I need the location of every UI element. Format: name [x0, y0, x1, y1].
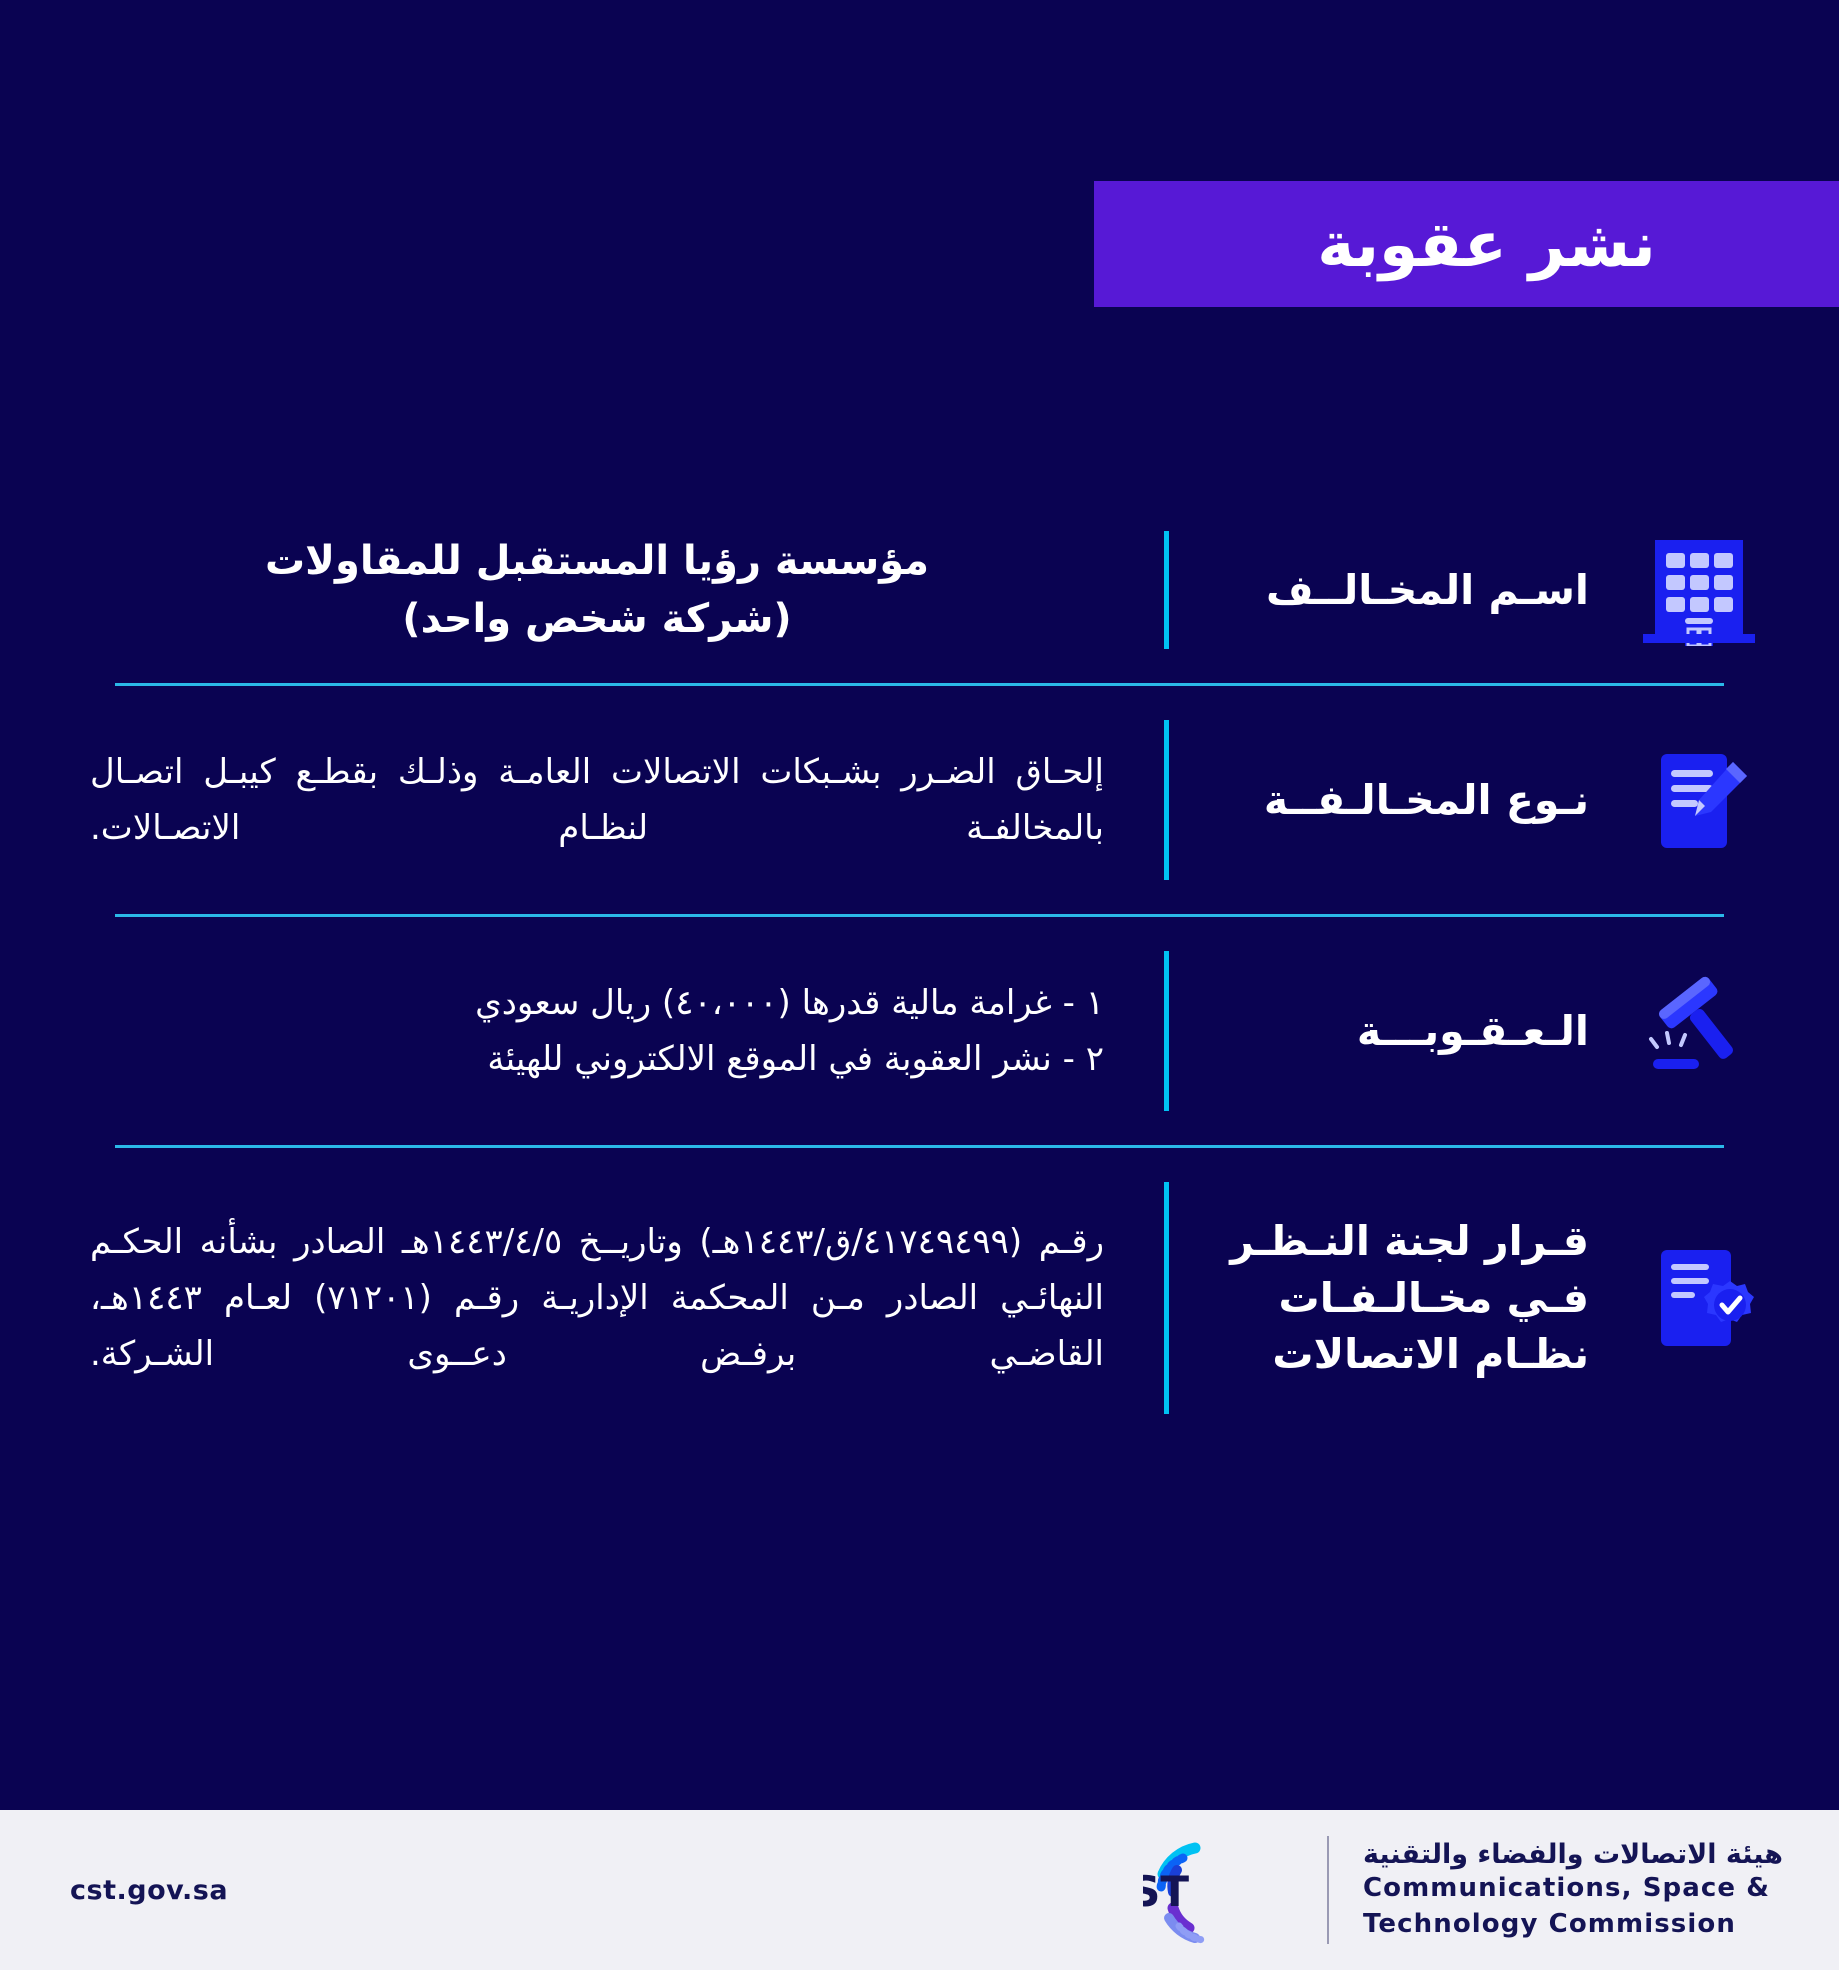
row-label-cell: الـعـقـوبـــة — [1169, 1003, 1589, 1060]
document-check-icon — [1637, 1242, 1761, 1354]
penalty-value: ١ - غرامة مالية قدرها (٤٠،٠٠٠) ريال سعود… — [90, 975, 1104, 1087]
vertical-divider — [1164, 531, 1169, 649]
value-line: (شركة شخص واحد) — [90, 590, 1104, 648]
vertical-divider — [1164, 1182, 1169, 1414]
value-line: ١ - غرامة مالية قدرها (٤٠،٠٠٠) ريال سعود… — [90, 975, 1104, 1031]
row-value-cell: إلحـاق الضـرر بشـبكات الاتصالات العامـة … — [0, 744, 1164, 856]
row-label-penalty: الـعـقـوبـــة — [1203, 1003, 1589, 1060]
row-value-cell: مؤسسة رؤيا المستقبل للمقاولات (شركة شخص … — [0, 532, 1164, 648]
org-name-english-line1: Communications, Space & — [1363, 1872, 1783, 1906]
footer: CST هيئة الاتصالات والفضاء والتقنية Comm… — [0, 1810, 1839, 1970]
row-label-committee-decision: قـرار لجنة النـظـر فـي مخـالـفـات نظـام … — [1203, 1213, 1589, 1383]
row-icon-cell — [1589, 744, 1839, 856]
gavel-icon — [1637, 975, 1761, 1087]
details-table: اسـم المخـالــف مؤسسة رؤيا المستقبل للمق… — [0, 497, 1839, 1448]
building-icon — [1637, 534, 1761, 646]
vertical-divider — [1164, 951, 1169, 1111]
row-label-name-of-violator: اسـم المخـالــف — [1203, 562, 1589, 619]
header-banner: نشر عقوبة — [1094, 181, 1839, 307]
row-label-cell: نـوع المخـالـفــة — [1169, 772, 1589, 829]
row-icon-cell — [1589, 975, 1839, 1087]
committee-decision-value: رقـم (٤١٧٤٩٤٩٩/ق/١٤٤٣هـ) وتاريــخ ١٤٤٣/٤… — [90, 1214, 1104, 1382]
org-name-arabic: هيئة الاتصالات والفضاء والتقنية — [1363, 1839, 1783, 1870]
brand-lockup: CST هيئة الاتصالات والفضاء والتقنية Comm… — [1143, 1830, 1783, 1950]
row-value-cell: ١ - غرامة مالية قدرها (٤٠،٠٠٠) ريال سعود… — [0, 975, 1164, 1087]
table-row: قـرار لجنة النـظـر فـي مخـالـفـات نظـام … — [0, 1148, 1839, 1448]
document-pen-icon — [1637, 744, 1761, 856]
violator-name-value: مؤسسة رؤيا المستقبل للمقاولات (شركة شخص … — [90, 532, 1104, 648]
table-row: الـعـقـوبـــة ١ - غرامة مالية قدرها (٤٠،… — [0, 917, 1839, 1145]
row-value-cell: رقـم (٤١٧٤٩٤٩٩/ق/١٤٤٣هـ) وتاريــخ ١٤٤٣/٤… — [0, 1214, 1164, 1382]
brand-divider — [1327, 1836, 1329, 1944]
violation-type-value: إلحـاق الضـرر بشـبكات الاتصالات العامـة … — [90, 744, 1104, 856]
table-row: نـوع المخـالـفــة إلحـاق الضـرر بشـبكات … — [0, 686, 1839, 914]
vertical-divider — [1164, 720, 1169, 880]
row-label-cell: اسـم المخـالــف — [1169, 562, 1589, 619]
row-label-cell: قـرار لجنة النـظـر فـي مخـالـفـات نظـام … — [1169, 1213, 1589, 1383]
website-url[interactable]: cst.gov.sa — [70, 1875, 228, 1906]
value-line: ٢ - نشر العقوبة في الموقع الالكتروني لله… — [90, 1031, 1104, 1087]
value-line: مؤسسة رؤيا المستقبل للمقاولات — [90, 532, 1104, 590]
row-icon-cell — [1589, 534, 1839, 646]
penalty-announcement-poster: نشر عقوبة — [0, 0, 1839, 1970]
svg-text:CST: CST — [1143, 1867, 1189, 1916]
cst-logo-icon: CST — [1143, 1830, 1293, 1950]
brand-text-block: هيئة الاتصالات والفضاء والتقنية Communic… — [1363, 1839, 1783, 1942]
page-title: نشر عقوبة — [1317, 213, 1656, 276]
table-row: اسـم المخـالــف مؤسسة رؤيا المستقبل للمق… — [0, 497, 1839, 683]
org-name-english-line2: Technology Commission — [1363, 1908, 1783, 1942]
row-label-violation-type: نـوع المخـالـفــة — [1203, 772, 1589, 829]
row-icon-cell — [1589, 1242, 1839, 1354]
